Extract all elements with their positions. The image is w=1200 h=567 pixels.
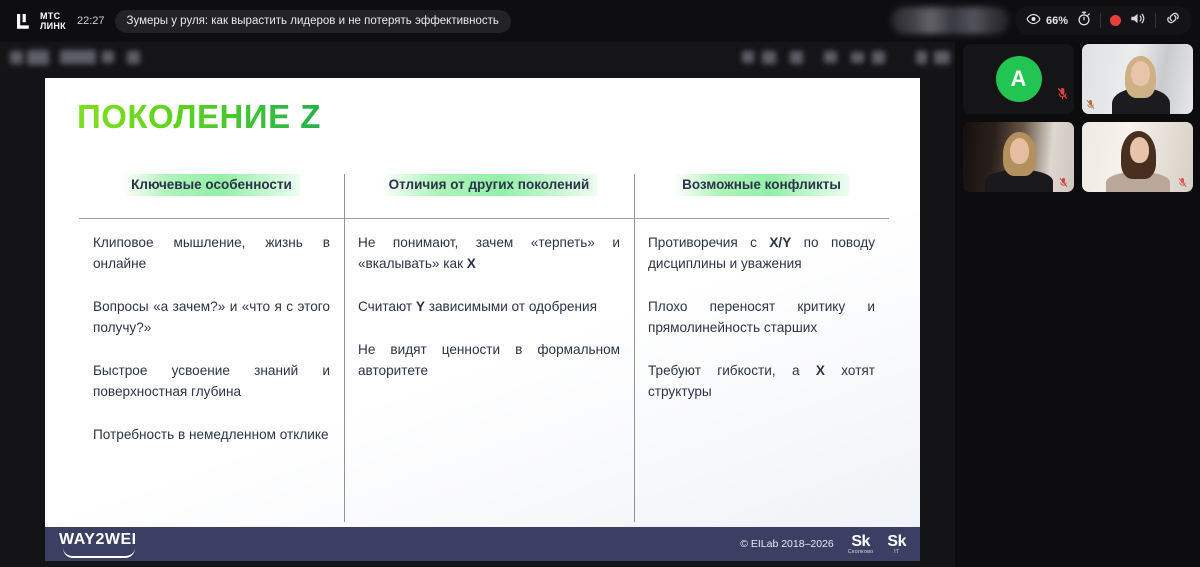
sound-wave-icon: [1130, 12, 1146, 30]
top-bar: МТСЛИНК 22:27 Зумеры у руля: как вырасти…: [0, 0, 1200, 42]
redacted-chip[interactable]: [762, 51, 776, 64]
timer-control[interactable]: [1077, 11, 1091, 31]
table-cell: Противоречия с X/Y по поводу дисциплины …: [648, 232, 875, 274]
participant-tile-4[interactable]: [1082, 122, 1193, 192]
table-cell: Потребность в немедленном отклике: [93, 424, 330, 445]
mts-link-brand-label: МТСЛИНК: [40, 11, 66, 31]
record-control[interactable]: [1110, 15, 1121, 26]
redacted-chip[interactable]: [790, 51, 803, 64]
table-cell: Плохо переносят критику и прямолинейност…: [648, 296, 875, 338]
mic-muted-icon: [1086, 97, 1097, 110]
redacted-chip[interactable]: [872, 51, 885, 64]
table-column-2: Не понимают, зачем «терпеть» и «вкалыват…: [344, 219, 634, 522]
toolbar-right: 66%: [891, 6, 1192, 35]
mic-muted-icon: [1178, 175, 1189, 188]
table-header-cell: Ключевые особенности: [79, 174, 344, 218]
audio-waveform-icon: [791, 98, 878, 140]
table-header-row: Ключевые особенности Отличия от других п…: [79, 174, 889, 218]
redacted-chip[interactable]: [27, 50, 49, 65]
table-column-1: Клиповое мышление, жизнь в онлайне Вопро…: [79, 219, 344, 522]
table-column-3: Противоречия с X/Y по поводу дисциплины …: [634, 219, 889, 522]
redacted-chip[interactable]: [824, 51, 837, 63]
toolbar-divider-1: [1100, 13, 1101, 28]
table-cell: Считают Y зависимыми от одобрения: [358, 296, 620, 317]
redacted-chip[interactable]: [916, 51, 927, 64]
way2wei-smile-icon: [63, 548, 135, 558]
table-cell: Не видят ценности в формальном авторитет…: [358, 339, 620, 381]
session-title: Зумеры у руля: как вырастить лидеров и н…: [115, 10, 511, 33]
column-header-label: Ключевые особенности: [123, 174, 300, 196]
table-cell: Требуют гибкости, а X хотят структуры: [648, 360, 875, 402]
slide-footer-right: © EILab 2018–2026 Sk Сколково Sk IT: [740, 534, 906, 555]
record-dot-icon: [1110, 15, 1121, 26]
shared-screen-stage: ПОКОЛЕНИЕ Z Ключевые особенности Отличия…: [0, 72, 955, 567]
meeting-window: МТСЛИНК 22:27 Зумеры у руля: как вырасти…: [0, 0, 1200, 567]
way2wei-logo: WAY2WEI: [59, 531, 137, 558]
copyright-label: © EILab 2018–2026: [740, 538, 834, 550]
meeting-controls: 66%: [1015, 6, 1192, 35]
redacted-chip[interactable]: [10, 51, 23, 64]
slide-footer: WAY2WEI © EILab 2018–2026 Sk Сколково Sk…: [45, 527, 920, 561]
table-header-cell: Отличия от других поколений: [344, 174, 634, 218]
comparison-table: Ключевые особенности Отличия от других п…: [79, 174, 889, 522]
participant-tiles: A: [963, 44, 1193, 200]
table-cell: Быстрое усвоение знаний и поверхностная …: [93, 360, 330, 402]
slide-title: ПОКОЛЕНИЕ Z: [77, 98, 321, 136]
column-header-label: Возможные конфликты: [674, 174, 849, 196]
sk-it-logo: Sk IT: [887, 534, 906, 555]
viewers-value: 66%: [1046, 15, 1068, 27]
clock-label: 22:27: [77, 15, 105, 27]
way2wei-logo-label: WAY2WEI: [59, 531, 137, 549]
redacted-chip[interactable]: [60, 50, 96, 64]
mts-link-brand[interactable]: МТСЛИНК: [14, 11, 66, 31]
table-header-cell: Возможные конфликты: [634, 174, 889, 218]
presentation-slide: ПОКОЛЕНИЕ Z Ключевые особенности Отличия…: [45, 78, 920, 561]
sk-it-mark: Sk: [887, 534, 906, 549]
sound-control[interactable]: [1130, 12, 1146, 30]
redacted-chip[interactable]: [851, 52, 864, 63]
participant-tile-avatar[interactable]: A: [963, 44, 1074, 114]
redacted-chip[interactable]: [127, 51, 140, 64]
redacted-chip[interactable]: [742, 51, 754, 63]
person-head: [1131, 61, 1150, 86]
mic-muted-icon: [1059, 175, 1070, 188]
column-header-label: Отличия от других поколений: [381, 174, 598, 196]
skolkovo-mark: Sk: [848, 534, 874, 549]
link-control[interactable]: [1165, 11, 1181, 30]
participants-panel: A: [955, 42, 1200, 567]
viewers-control[interactable]: 66%: [1026, 12, 1068, 30]
skolkovo-logo: Sk Сколково: [848, 534, 874, 555]
brand-line-1: МТС: [40, 11, 60, 21]
mts-link-logo-icon: [14, 12, 33, 31]
redacted-chip[interactable]: [102, 51, 114, 63]
redacted-toolbar-chip[interactable]: [891, 7, 1009, 34]
eye-icon: [1026, 12, 1041, 30]
redacted-chip[interactable]: [934, 51, 950, 64]
mic-muted-icon: [1057, 87, 1068, 100]
toolbar-divider-2: [1155, 13, 1156, 28]
participant-tile-speaker[interactable]: [1082, 44, 1193, 114]
person-head: [1130, 137, 1149, 163]
table-column-divider: [634, 174, 635, 522]
participant-row-2: [963, 122, 1193, 192]
table-cell: Не понимают, зачем «терпеть» и «вкалыват…: [358, 232, 620, 274]
person-head: [1010, 138, 1029, 164]
skolkovo-sub: Сколково: [848, 549, 874, 555]
participant-tile-3[interactable]: [963, 122, 1074, 192]
table-cell: Клиповое мышление, жизнь в онлайне: [93, 232, 330, 274]
brand-line-2: ЛИНК: [40, 21, 66, 31]
avatar: A: [996, 56, 1042, 102]
table-body: Клиповое мышление, жизнь в онлайне Вопро…: [79, 219, 889, 522]
stopwatch-icon: [1077, 11, 1091, 31]
participant-row-1: A: [963, 44, 1193, 114]
table-cell: Вопросы «а зачем?» и «что я с этого полу…: [93, 296, 330, 338]
link-icon: [1165, 11, 1181, 30]
table-column-divider: [344, 174, 345, 522]
